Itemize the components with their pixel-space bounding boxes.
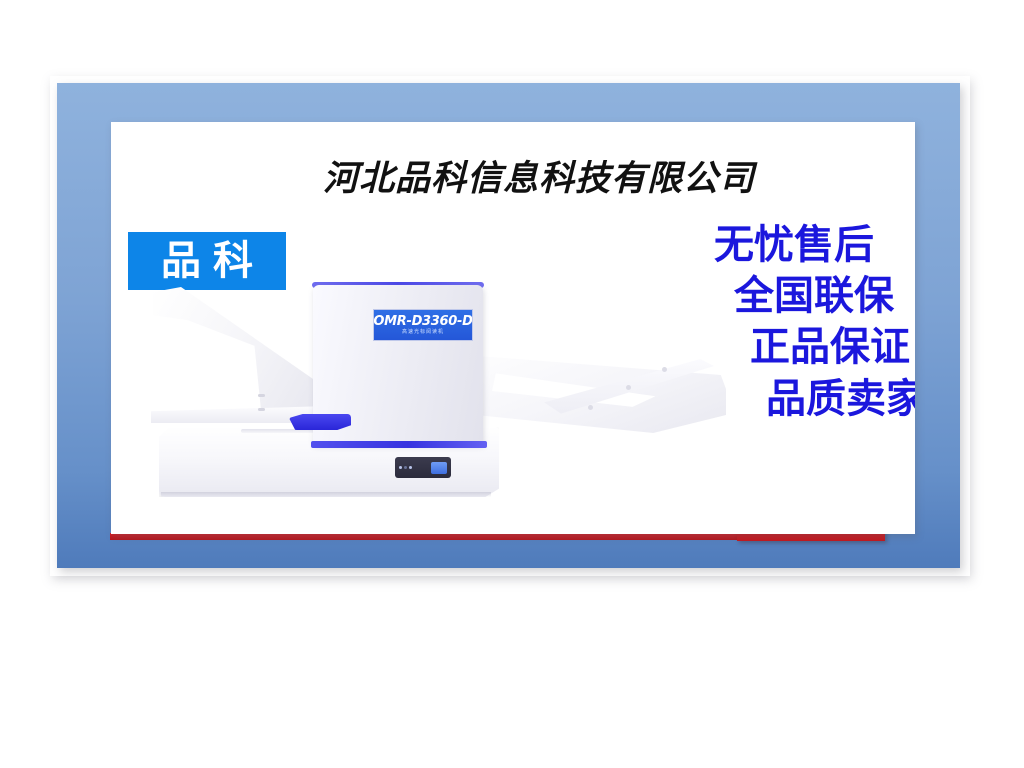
- input-tray-screw: [258, 394, 265, 397]
- indicator-dot: [404, 466, 407, 469]
- scanner-bottom-trim: [311, 441, 487, 448]
- indicator-dot: [399, 466, 402, 469]
- guide-lever-icon: [289, 414, 351, 430]
- brand-logo-text: 品科: [149, 241, 265, 281]
- guarantee-item-0: 无忧售后: [676, 220, 915, 271]
- banner-stage: 河北品科信息科技有限公司 品科 无忧售后 全国联保 正品保证 品质卖家: [0, 0, 1024, 768]
- output-tray-screw: [626, 385, 631, 390]
- control-panel-icon: [395, 457, 451, 478]
- model-label-text: OMR-D3360-D: [373, 315, 472, 328]
- product-base-shadow: [161, 492, 491, 497]
- model-label-plate: OMR-D3360-D 高速光标阅读机: [373, 309, 473, 341]
- indicator-dot: [409, 466, 412, 469]
- power-button-icon: [431, 462, 447, 474]
- content-panel: 河北品科信息科技有限公司 品科 无忧售后 全国联保 正品保证 品质卖家: [111, 122, 915, 534]
- input-tray-support: [153, 287, 328, 415]
- output-tray-screw: [662, 367, 667, 372]
- control-panel-indicators: [399, 466, 427, 469]
- product-image-omr-scanner: OMR-D3360-D 高速光标阅读机: [141, 277, 741, 527]
- output-tray-screw: [588, 405, 593, 410]
- input-tray-screw: [258, 408, 265, 411]
- red-accent-line: [110, 533, 780, 540]
- output-tray: [466, 337, 726, 437]
- page-title: 河北品科信息科技有限公司: [239, 150, 839, 201]
- model-sublabel-text: 高速光标阅读机: [402, 330, 444, 335]
